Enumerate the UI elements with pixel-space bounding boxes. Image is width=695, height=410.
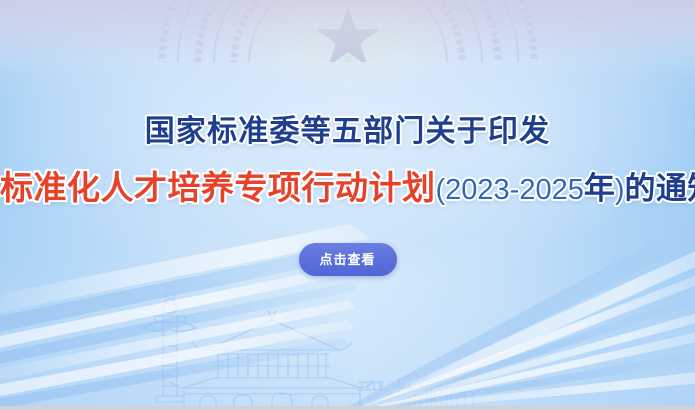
title-suffix-text: 的通知 [625,171,695,206]
title-line-1: 国家标准委等五部门关于印发 [0,112,695,152]
promo-banner: 国家标准委等五部门关于印发 标准化人才培养专项行动计划(2023-2025年)的… [0,0,695,410]
cta-container: 点击查看 [0,243,695,276]
title-year-unit: 年 [584,171,615,206]
title-year-range: (2023-2025 [436,174,584,206]
star-emblem-rings-icon [158,0,538,62]
bottom-divider [0,406,695,410]
title-line-2: 标准化人才培养专项行动计划(2023-2025年)的通知 [0,166,695,217]
banner-title: 国家标准委等五部门关于印发 标准化人才培养专项行动计划(2023-2025年)的… [0,112,695,217]
title-highlight-text: 标准化人才培养专项行动计划 [0,169,436,206]
view-details-button[interactable]: 点击查看 [299,243,397,276]
title-paren-close: ) [615,174,625,206]
